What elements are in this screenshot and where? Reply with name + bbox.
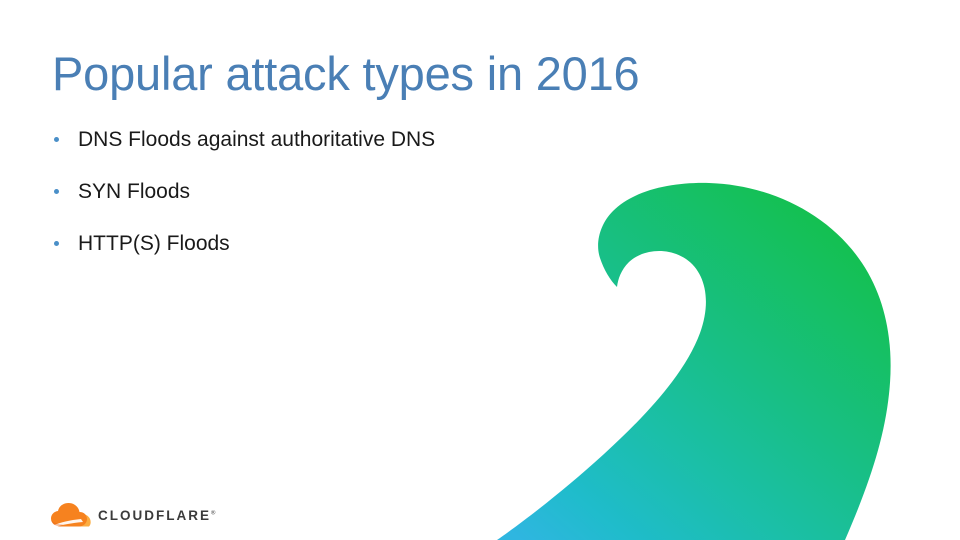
bullet-list: DNS Floods against authoritative DNS SYN…	[52, 128, 572, 255]
registered-trademark-icon: ®	[211, 510, 215, 516]
bullet-point-icon	[54, 137, 59, 142]
list-item: DNS Floods against authoritative DNS	[52, 128, 572, 151]
cloudflare-logo: CLOUDFLARE®	[50, 500, 215, 530]
slide-canvas: Popular attack types in 2016 DNS Floods …	[0, 0, 960, 540]
list-item-label: SYN Floods	[78, 180, 190, 203]
cloudflare-cloud-icon	[50, 502, 92, 529]
list-item-label: HTTP(S) Floods	[78, 232, 230, 255]
cloudflare-wordmark: CLOUDFLARE®	[98, 508, 215, 523]
cloudflare-wordmark-text: CLOUDFLARE	[98, 508, 211, 523]
list-item-label: DNS Floods against authoritative DNS	[78, 128, 435, 151]
list-item: SYN Floods	[52, 180, 572, 203]
page-title: Popular attack types in 2016	[52, 46, 640, 101]
list-item: HTTP(S) Floods	[52, 232, 572, 255]
bullet-point-icon	[54, 241, 59, 246]
bullet-point-icon	[54, 189, 59, 194]
